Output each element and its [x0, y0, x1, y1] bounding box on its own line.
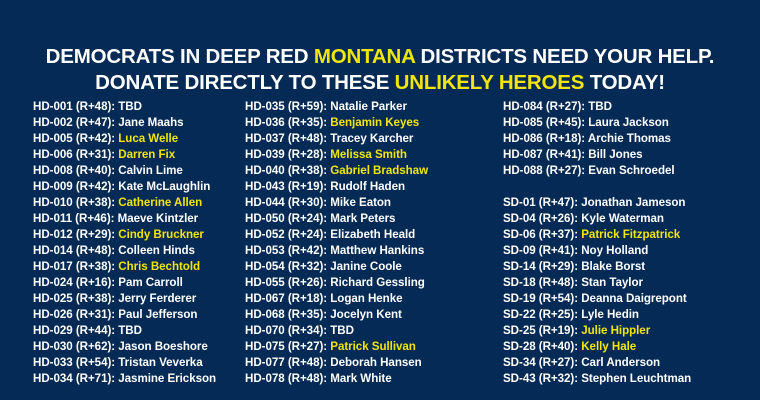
- candidate-name: Patrick Fitzpatrick: [581, 228, 680, 241]
- district-row: HD-030 (R+62): Jason Boeshore: [33, 339, 245, 355]
- district-columns: HD-001 (R+48): TBDHD-002 (R+47): Jane Ma…: [0, 99, 760, 387]
- candidate-name: Deborah Hansen: [330, 356, 421, 369]
- headline-line-1-highlight: MONTANA: [314, 45, 415, 68]
- district-row: HD-043 (R+19): Rudolf Haden: [245, 179, 493, 195]
- candidate-name: Kelly Hale: [581, 340, 636, 353]
- district-label: SD-09 (R+41):: [503, 244, 581, 257]
- candidate-name: Maeve Kintzler: [118, 212, 199, 225]
- district-row: HD-050 (R+24): Mark Peters: [245, 211, 493, 227]
- district-row: SD-09 (R+41): Noy Holland: [503, 243, 760, 259]
- candidate-name: Catherine Allen: [118, 196, 202, 209]
- candidate-name: Chris Bechtold: [118, 260, 200, 273]
- district-label: HD-036 (R+35):: [245, 116, 330, 129]
- candidate-name: Tracey Karcher: [330, 132, 413, 145]
- candidate-name: Richard Gessling: [330, 276, 425, 289]
- district-label: HD-035 (R+59):: [245, 100, 330, 113]
- district-label: SD-18 (R+48):: [503, 276, 581, 289]
- district-label: HD-025 (R+38):: [33, 292, 118, 305]
- candidate-name: TBD: [588, 100, 612, 113]
- candidate-name: Janine Coole: [330, 260, 402, 273]
- candidate-name: Jocelyn Kent: [330, 308, 402, 321]
- district-label: HD-077 (R+48):: [245, 356, 330, 369]
- candidate-name: Jane Maahs: [118, 116, 183, 129]
- candidate-name: TBD: [118, 324, 142, 337]
- candidate-name: Jason Boeshore: [118, 340, 208, 353]
- district-row: HD-067 (R+18): Logan Henke: [245, 291, 493, 307]
- district-row: SD-01 (R+47): Jonathan Jameson: [503, 195, 760, 211]
- district-row: HD-011 (R+46): Maeve Kintzler: [33, 211, 245, 227]
- district-row: HD-014 (R+48): Colleen Hinds: [33, 243, 245, 259]
- district-label: HD-009 (R+42):: [33, 180, 118, 193]
- district-row: HD-084 (R+27): TBD: [503, 99, 760, 115]
- district-row: HD-009 (R+42): Kate McLaughlin: [33, 179, 245, 195]
- candidate-name: Melissa Smith: [330, 148, 407, 161]
- candidate-name: Luca Welle: [118, 132, 178, 145]
- candidate-name: Rudolf Haden: [330, 180, 405, 193]
- district-label: HD-075 (R+27):: [245, 340, 330, 353]
- candidate-name: Evan Schroedel: [588, 164, 674, 177]
- district-row: HD-024 (R+16): Pam Carroll: [33, 275, 245, 291]
- district-row: HD-001 (R+48): TBD: [33, 99, 245, 115]
- district-row: SD-19 (R+54): Deanna Daigrepont: [503, 291, 760, 307]
- district-label: SD-28 (R+40):: [503, 340, 581, 353]
- candidate-name: Laura Jackson: [588, 116, 669, 129]
- district-row: HD-006 (R+31): Darren Fix: [33, 147, 245, 163]
- district-row: HD-002 (R+47): Jane Maahs: [33, 115, 245, 131]
- district-column-2: HD-035 (R+59): Natalie ParkerHD-036 (R+3…: [245, 99, 493, 387]
- district-row: HD-040 (R+38): Gabriel Bradshaw: [245, 163, 493, 179]
- candidate-name: Carl Anderson: [581, 356, 660, 369]
- district-label: HD-010 (R+38):: [33, 196, 118, 209]
- headline-line-1: DEMOCRATS IN DEEP RED MONTANA DISTRICTS …: [0, 44, 760, 70]
- district-row: SD-43 (R+32): Stephen Leuchtman: [503, 371, 760, 387]
- district-label: HD-084 (R+27):: [503, 100, 588, 113]
- district-row: HD-075 (R+27): Patrick Sullivan: [245, 339, 493, 355]
- headline-line-2-text-after: TODAY!: [584, 71, 665, 94]
- candidate-name: TBD: [118, 100, 142, 113]
- candidate-name: Logan Henke: [330, 292, 402, 305]
- district-label: HD-053 (R+42):: [245, 244, 330, 257]
- district-label: HD-029 (R+44):: [33, 324, 118, 337]
- candidate-name: Deanna Daigrepont: [581, 292, 686, 305]
- district-row: HD-054 (R+32): Janine Coole: [245, 259, 493, 275]
- district-label: SD-06 (R+37):: [503, 228, 581, 241]
- district-row: SD-06 (R+37): Patrick Fitzpatrick: [503, 227, 760, 243]
- district-row: HD-070 (R+34): TBD: [245, 323, 493, 339]
- district-row: HD-078 (R+48): Mark White: [245, 371, 493, 387]
- district-row: HD-010 (R+38): Catherine Allen: [33, 195, 245, 211]
- candidate-name: Stephen Leuchtman: [581, 372, 691, 385]
- candidate-name: Archie Thomas: [588, 132, 671, 145]
- district-row: HD-087 (R+41): Bill Jones: [503, 147, 760, 163]
- poster-root: DEMOCRATS IN DEEP RED MONTANA DISTRICTS …: [0, 0, 760, 400]
- row-spacer: [503, 179, 760, 195]
- district-label: HD-001 (R+48):: [33, 100, 118, 113]
- district-row: HD-017 (R+38): Chris Bechtold: [33, 259, 245, 275]
- candidate-name: Kate McLaughlin: [118, 180, 210, 193]
- district-row: HD-044 (R+30): Mike Eaton: [245, 195, 493, 211]
- candidate-name: Bill Jones: [588, 148, 642, 161]
- candidate-name: TBD: [330, 324, 354, 337]
- district-label: HD-034 (R+71):: [33, 372, 118, 385]
- district-label: SD-25 (R+19):: [503, 324, 581, 337]
- district-label: SD-14 (R+29):: [503, 260, 581, 273]
- district-label: HD-005 (R+42):: [33, 132, 118, 145]
- candidate-name: Stan Taylor: [581, 276, 643, 289]
- headline-line-1-text-after: DISTRICTS NEED YOUR HELP.: [415, 45, 714, 68]
- district-row: HD-036 (R+35): Benjamin Keyes: [245, 115, 493, 131]
- district-label: SD-43 (R+32):: [503, 372, 581, 385]
- candidate-name: Natalie Parker: [330, 100, 407, 113]
- candidate-name: Mark White: [330, 372, 391, 385]
- district-row: HD-026 (R+31): Paul Jefferson: [33, 307, 245, 323]
- district-row: HD-052 (R+24): Elizabeth Heald: [245, 227, 493, 243]
- district-column-3: HD-084 (R+27): TBDHD-085 (R+45): Laura J…: [493, 99, 760, 387]
- district-label: HD-037 (R+48):: [245, 132, 330, 145]
- district-label: HD-014 (R+48):: [33, 244, 118, 257]
- district-label: HD-026 (R+31):: [33, 308, 118, 321]
- district-label: HD-006 (R+31):: [33, 148, 118, 161]
- district-label: SD-19 (R+54):: [503, 292, 581, 305]
- district-row: HD-005 (R+42): Luca Welle: [33, 131, 245, 147]
- candidate-name: Mark Peters: [330, 212, 395, 225]
- district-label: SD-22 (R+25):: [503, 308, 581, 321]
- candidate-name: Tristan Veverka: [118, 356, 202, 369]
- district-label: HD-088 (R+27):: [503, 164, 588, 177]
- district-label: HD-086 (R+18):: [503, 132, 588, 145]
- candidate-name: Blake Borst: [581, 260, 645, 273]
- district-row: HD-055 (R+26): Richard Gessling: [245, 275, 493, 291]
- district-row: HD-086 (R+18): Archie Thomas: [503, 131, 760, 147]
- candidate-name: Mike Eaton: [330, 196, 391, 209]
- district-label: HD-050 (R+24):: [245, 212, 330, 225]
- district-label: HD-002 (R+47):: [33, 116, 118, 129]
- district-row: HD-029 (R+44): TBD: [33, 323, 245, 339]
- headline-line-2-highlight: UNLIKELY HEROES: [395, 71, 585, 94]
- headline-line-2-text-before: DONATE DIRECTLY TO THESE: [95, 71, 395, 94]
- candidate-name: Jerry Ferderer: [118, 292, 196, 305]
- candidate-name: Darren Fix: [118, 148, 175, 161]
- candidate-name: Jasmine Erickson: [118, 372, 216, 385]
- candidate-name: Lyle Hedin: [581, 308, 639, 321]
- district-row: HD-025 (R+38): Jerry Ferderer: [33, 291, 245, 307]
- district-label: HD-040 (R+38):: [245, 164, 330, 177]
- district-label: SD-01 (R+47):: [503, 196, 581, 209]
- district-label: HD-067 (R+18):: [245, 292, 330, 305]
- district-row: HD-077 (R+48): Deborah Hansen: [245, 355, 493, 371]
- district-label: HD-078 (R+48):: [245, 372, 330, 385]
- district-row: HD-035 (R+59): Natalie Parker: [245, 99, 493, 115]
- candidate-name: Cindy Bruckner: [118, 228, 204, 241]
- district-row: SD-25 (R+19): Julie Hippler: [503, 323, 760, 339]
- district-label: HD-043 (R+19):: [245, 180, 330, 193]
- district-label: SD-04 (R+26):: [503, 212, 581, 225]
- candidate-name: Colleen Hinds: [118, 244, 195, 257]
- district-row: HD-012 (R+29): Cindy Bruckner: [33, 227, 245, 243]
- district-label: HD-030 (R+62):: [33, 340, 118, 353]
- candidate-name: Benjamin Keyes: [330, 116, 419, 129]
- candidate-name: Julie Hippler: [581, 324, 650, 337]
- candidate-name: Pam Carroll: [118, 276, 183, 289]
- candidate-name: Calvin Lime: [118, 164, 183, 177]
- candidate-name: Matthew Hankins: [330, 244, 424, 257]
- district-row: HD-037 (R+48): Tracey Karcher: [245, 131, 493, 147]
- district-label: HD-054 (R+32):: [245, 260, 330, 273]
- candidate-name: Patrick Sullivan: [330, 340, 416, 353]
- district-row: SD-34 (R+27): Carl Anderson: [503, 355, 760, 371]
- candidate-name: Paul Jefferson: [118, 308, 197, 321]
- district-row: HD-033 (R+54): Tristan Veverka: [33, 355, 245, 371]
- district-label: HD-024 (R+16):: [33, 276, 118, 289]
- district-row: SD-18 (R+48): Stan Taylor: [503, 275, 760, 291]
- district-label: HD-068 (R+35):: [245, 308, 330, 321]
- district-row: HD-068 (R+35): Jocelyn Kent: [245, 307, 493, 323]
- district-row: SD-28 (R+40): Kelly Hale: [503, 339, 760, 355]
- district-row: SD-14 (R+29): Blake Borst: [503, 259, 760, 275]
- headline-line-2: DONATE DIRECTLY TO THESE UNLIKELY HEROES…: [0, 70, 760, 96]
- district-row: SD-04 (R+26): Kyle Waterman: [503, 211, 760, 227]
- district-row: SD-22 (R+25): Lyle Hedin: [503, 307, 760, 323]
- page-title: DEMOCRATS IN DEEP RED MONTANA DISTRICTS …: [0, 0, 760, 96]
- district-label: HD-055 (R+26):: [245, 276, 330, 289]
- district-label: HD-008 (R+40):: [33, 164, 118, 177]
- district-row: HD-034 (R+71): Jasmine Erickson: [33, 371, 245, 387]
- candidate-name: Jonathan Jameson: [581, 196, 685, 209]
- district-label: HD-011 (R+46):: [33, 212, 118, 225]
- headline-line-1-text-before: DEMOCRATS IN DEEP RED: [46, 45, 314, 68]
- candidate-name: Gabriel Bradshaw: [330, 164, 428, 177]
- district-row: HD-088 (R+27): Evan Schroedel: [503, 163, 760, 179]
- district-label: HD-033 (R+54):: [33, 356, 118, 369]
- candidate-name: Kyle Waterman: [581, 212, 664, 225]
- district-label: HD-070 (R+34):: [245, 324, 330, 337]
- district-row: HD-053 (R+42): Matthew Hankins: [245, 243, 493, 259]
- district-label: HD-012 (R+29):: [33, 228, 118, 241]
- district-row: HD-008 (R+40): Calvin Lime: [33, 163, 245, 179]
- district-row: HD-039 (R+28): Melissa Smith: [245, 147, 493, 163]
- district-label: HD-087 (R+41):: [503, 148, 588, 161]
- district-label: HD-039 (R+28):: [245, 148, 330, 161]
- district-label: HD-085 (R+45):: [503, 116, 588, 129]
- district-label: HD-044 (R+30):: [245, 196, 330, 209]
- district-label: HD-017 (R+38):: [33, 260, 118, 273]
- candidate-name: Noy Holland: [581, 244, 648, 257]
- district-label: SD-34 (R+27):: [503, 356, 581, 369]
- district-column-1: HD-001 (R+48): TBDHD-002 (R+47): Jane Ma…: [0, 99, 245, 387]
- district-label: HD-052 (R+24):: [245, 228, 330, 241]
- district-row: HD-085 (R+45): Laura Jackson: [503, 115, 760, 131]
- candidate-name: Elizabeth Heald: [330, 228, 415, 241]
